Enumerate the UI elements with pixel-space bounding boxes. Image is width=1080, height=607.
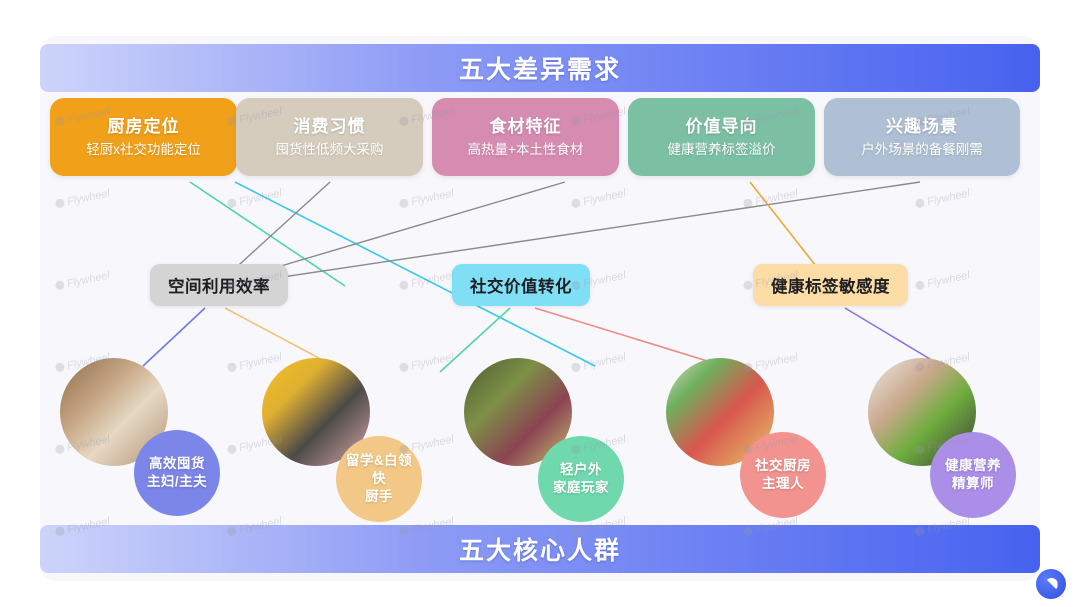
persona-badge-3-label: 轻户外家庭玩家	[549, 461, 613, 497]
persona-badge-5[interactable]: 健康营养精算师	[930, 432, 1016, 518]
logo-glyph	[1045, 578, 1058, 591]
driver-label-3[interactable]: 健康标签敏感度	[753, 264, 908, 306]
need-card-4-title: 价值导向	[686, 116, 758, 137]
need-card-1[interactable]: 厨房定位 轻厨x社交功能定位	[50, 98, 237, 176]
driver-label-3-text: 健康标签敏感度	[771, 273, 890, 297]
persona-badge-4-label: 社交厨房主理人	[751, 457, 815, 493]
need-card-2-title: 消费习惯	[294, 116, 366, 137]
need-card-4-subtitle: 健康营养标签溢价	[668, 142, 776, 158]
header-bar: 五大差异需求	[40, 44, 1040, 92]
need-card-3-subtitle: 高热量+本土性食材	[468, 142, 584, 158]
need-card-3[interactable]: 食材特征 高热量+本土性食材	[432, 98, 619, 176]
persona-badge-1-label: 高效囤货主妇/主夫	[143, 455, 211, 491]
driver-label-2[interactable]: 社交价值转化	[452, 264, 590, 306]
flywheel-logo-icon[interactable]	[1036, 569, 1066, 599]
footer-title: 五大核心人群	[459, 531, 621, 567]
infographic-canvas: 五大差异需求 厨房定位 轻厨x社交功能定位 消费习惯 囤货性低频大采购 食材特征…	[0, 0, 1080, 607]
need-card-5[interactable]: 兴趣场景 户外场景的备餐刚需	[824, 98, 1020, 176]
persona-badge-3[interactable]: 轻户外家庭玩家	[538, 436, 624, 522]
need-card-2[interactable]: 消费习惯 囤货性低频大采购	[236, 98, 423, 176]
persona-badge-5-label: 健康营养精算师	[941, 457, 1005, 493]
persona-badge-4[interactable]: 社交厨房主理人	[740, 432, 826, 518]
driver-label-1[interactable]: 空间利用效率	[150, 264, 288, 306]
persona-badge-1[interactable]: 高效囤货主妇/主夫	[134, 430, 220, 516]
need-card-5-title: 兴趣场景	[886, 116, 958, 137]
need-card-1-title: 厨房定位	[108, 116, 180, 137]
persona-badge-2[interactable]: 留学&白领快厨手	[336, 436, 422, 522]
need-card-3-title: 食材特征	[490, 116, 562, 137]
page-title: 五大差异需求	[459, 50, 621, 86]
driver-label-2-text: 社交价值转化	[470, 273, 572, 297]
need-card-4[interactable]: 价值导向 健康营养标签溢价	[628, 98, 815, 176]
need-card-2-subtitle: 囤货性低频大采购	[276, 142, 384, 158]
need-card-1-subtitle: 轻厨x社交功能定位	[86, 142, 201, 158]
driver-label-1-text: 空间利用效率	[168, 273, 270, 297]
footer-bar: 五大核心人群	[40, 525, 1040, 573]
persona-badge-2-label: 留学&白领快厨手	[336, 452, 422, 507]
need-card-5-subtitle: 户外场景的备餐刚需	[861, 142, 983, 158]
main-panel: 五大差异需求 厨房定位 轻厨x社交功能定位 消费习惯 囤货性低频大采购 食材特征…	[40, 36, 1040, 581]
